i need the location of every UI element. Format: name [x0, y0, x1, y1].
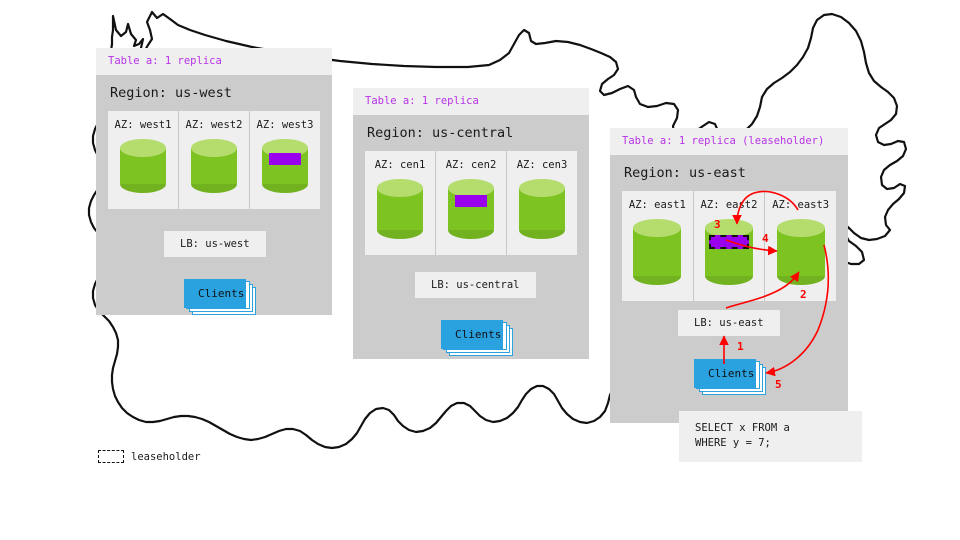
az-label-east1: AZ: east1	[629, 199, 686, 211]
replica-block-east2-leaseholder[interactable]	[709, 235, 749, 249]
region-label-us-east: Region: us-east	[622, 155, 836, 191]
panel-title-us-west: Table a: 1 replica	[96, 48, 332, 75]
az-label-cen2: AZ: cen2	[446, 159, 497, 171]
node-cylinder-east3[interactable]	[777, 219, 825, 285]
lb-box-us-west[interactable]: LB: us-west	[164, 231, 266, 257]
node-cylinder-cen3[interactable]	[519, 179, 565, 239]
az-cell-east3[interactable]: AZ: east3	[764, 191, 836, 301]
az-cell-west2[interactable]: AZ: west2	[178, 111, 249, 209]
clients-label-us-west[interactable]: Clients	[184, 279, 246, 308]
clients-label-us-central[interactable]: Clients	[441, 320, 503, 349]
arrow-number-4: 4	[762, 232, 769, 245]
dashed-rect-icon	[98, 450, 124, 463]
az-label-east2: AZ: east2	[701, 199, 758, 211]
node-cylinder-cen2[interactable]	[448, 179, 494, 239]
replica-block-west3[interactable]	[269, 153, 301, 165]
az-cell-east1[interactable]: AZ: east1	[622, 191, 693, 301]
clients-stack-us-west[interactable]: Clients	[184, 279, 246, 308]
az-cell-west1[interactable]: AZ: west1	[108, 111, 178, 209]
node-cylinder-west3[interactable]	[262, 139, 308, 193]
arrow-number-1: 1	[737, 340, 744, 353]
node-cylinder-east1[interactable]	[633, 219, 681, 285]
az-row-us-central: AZ: cen1 AZ: cen2	[365, 151, 577, 255]
az-row-us-east: AZ: east1 AZ: east2	[622, 191, 836, 301]
lb-box-us-central[interactable]: LB: us-central	[415, 272, 536, 298]
arrow-number-5: 5	[775, 378, 782, 391]
sql-query-note: SELECT x FROM a WHERE y = 7;	[679, 411, 862, 462]
az-label-west2: AZ: west2	[186, 119, 243, 131]
replica-block-cen2[interactable]	[455, 195, 487, 207]
az-row-us-west: AZ: west1 AZ: west2 AZ	[108, 111, 320, 209]
node-cylinder-west1[interactable]	[120, 139, 166, 193]
arrow-number-3: 3	[714, 218, 721, 231]
az-cell-cen1[interactable]: AZ: cen1	[365, 151, 435, 255]
region-label-us-west: Region: us-west	[108, 75, 320, 111]
node-cylinder-cen1[interactable]	[377, 179, 423, 239]
az-label-cen1: AZ: cen1	[375, 159, 426, 171]
region-panel-us-east: Table a: 1 replica (leaseholder) Region:…	[610, 128, 848, 423]
clients-stack-us-east[interactable]: Clients	[694, 359, 756, 388]
clients-label-us-east[interactable]: Clients	[694, 359, 756, 388]
az-cell-east2[interactable]: AZ: east2	[693, 191, 765, 301]
region-panel-us-central: Table a: 1 replica Region: us-central AZ…	[353, 88, 589, 359]
arrow-number-2: 2	[800, 288, 807, 301]
az-label-cen3: AZ: cen3	[517, 159, 568, 171]
diagram-canvas: Table a: 1 replica Region: us-west AZ: w…	[0, 0, 960, 540]
panel-title-us-east: Table a: 1 replica (leaseholder)	[610, 128, 848, 155]
cylinder-top	[519, 179, 565, 197]
region-label-us-central: Region: us-central	[365, 115, 577, 151]
legend-leaseholder: leaseholder	[98, 450, 201, 463]
cylinder-top	[777, 219, 825, 237]
cylinder-top	[377, 179, 423, 197]
panel-title-us-central: Table a: 1 replica	[353, 88, 589, 115]
az-cell-cen3[interactable]: AZ: cen3	[506, 151, 577, 255]
az-label-east3: AZ: east3	[772, 199, 829, 211]
region-panel-us-west: Table a: 1 replica Region: us-west AZ: w…	[96, 48, 332, 315]
cylinder-top	[120, 139, 166, 157]
lb-box-us-east[interactable]: LB: us-east	[678, 310, 780, 336]
legend-label: leaseholder	[131, 451, 201, 463]
cylinder-top	[633, 219, 681, 237]
node-cylinder-east2[interactable]	[705, 219, 753, 285]
az-cell-west3[interactable]: AZ: west3	[249, 111, 320, 209]
az-cell-cen2[interactable]: AZ: cen2	[435, 151, 506, 255]
az-label-west1: AZ: west1	[115, 119, 172, 131]
cylinder-top	[191, 139, 237, 157]
node-cylinder-west2[interactable]	[191, 139, 237, 193]
az-label-west3: AZ: west3	[257, 119, 314, 131]
clients-stack-us-central[interactable]: Clients	[441, 320, 503, 349]
